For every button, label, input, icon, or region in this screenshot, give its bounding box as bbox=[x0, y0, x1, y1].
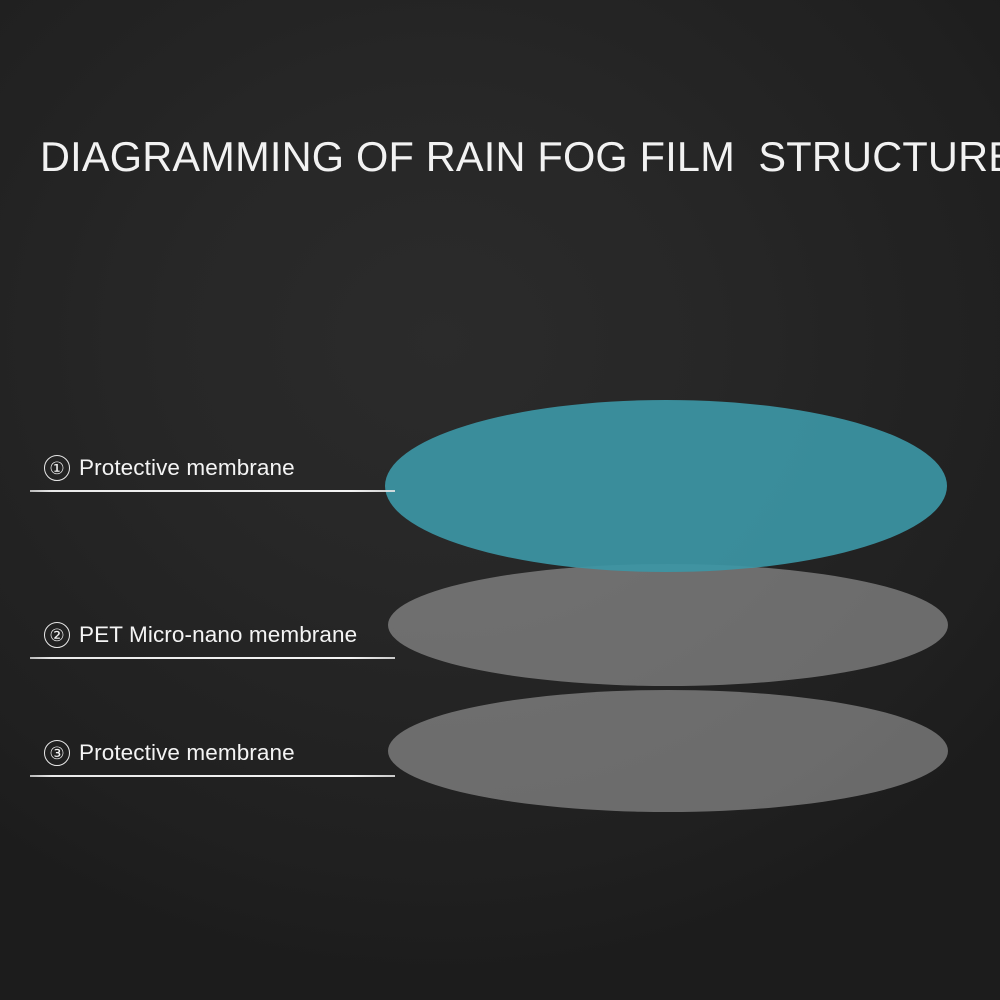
callout-2-content: ② PET Micro-nano membrane bbox=[44, 622, 357, 648]
callout-2-label: PET Micro-nano membrane bbox=[79, 622, 357, 648]
leader-line-2 bbox=[30, 657, 395, 659]
callout-1-label: Protective membrane bbox=[79, 455, 295, 481]
diagram-canvas: DIAGRAMMING OF RAIN FOG FILM STRUCTURE ①… bbox=[0, 0, 1000, 1000]
circled-number-1-icon: ① bbox=[44, 455, 70, 481]
leader-line-3 bbox=[30, 775, 395, 777]
callout-1-content: ① Protective membrane bbox=[44, 455, 295, 481]
circled-number-2-icon: ② bbox=[44, 622, 70, 648]
layer-ellipse-2-pet-micro-nano-membrane bbox=[388, 564, 948, 686]
callout-3-content: ③ Protective membrane bbox=[44, 740, 295, 766]
callout-3-label: Protective membrane bbox=[79, 740, 295, 766]
layer-ellipse-1-protective-membrane bbox=[385, 400, 947, 572]
leader-line-1 bbox=[30, 490, 395, 492]
circled-number-3-icon: ③ bbox=[44, 740, 70, 766]
page-title: DIAGRAMMING OF RAIN FOG FILM STRUCTURE bbox=[40, 131, 980, 183]
layer-ellipse-3-protective-membrane bbox=[388, 690, 948, 812]
